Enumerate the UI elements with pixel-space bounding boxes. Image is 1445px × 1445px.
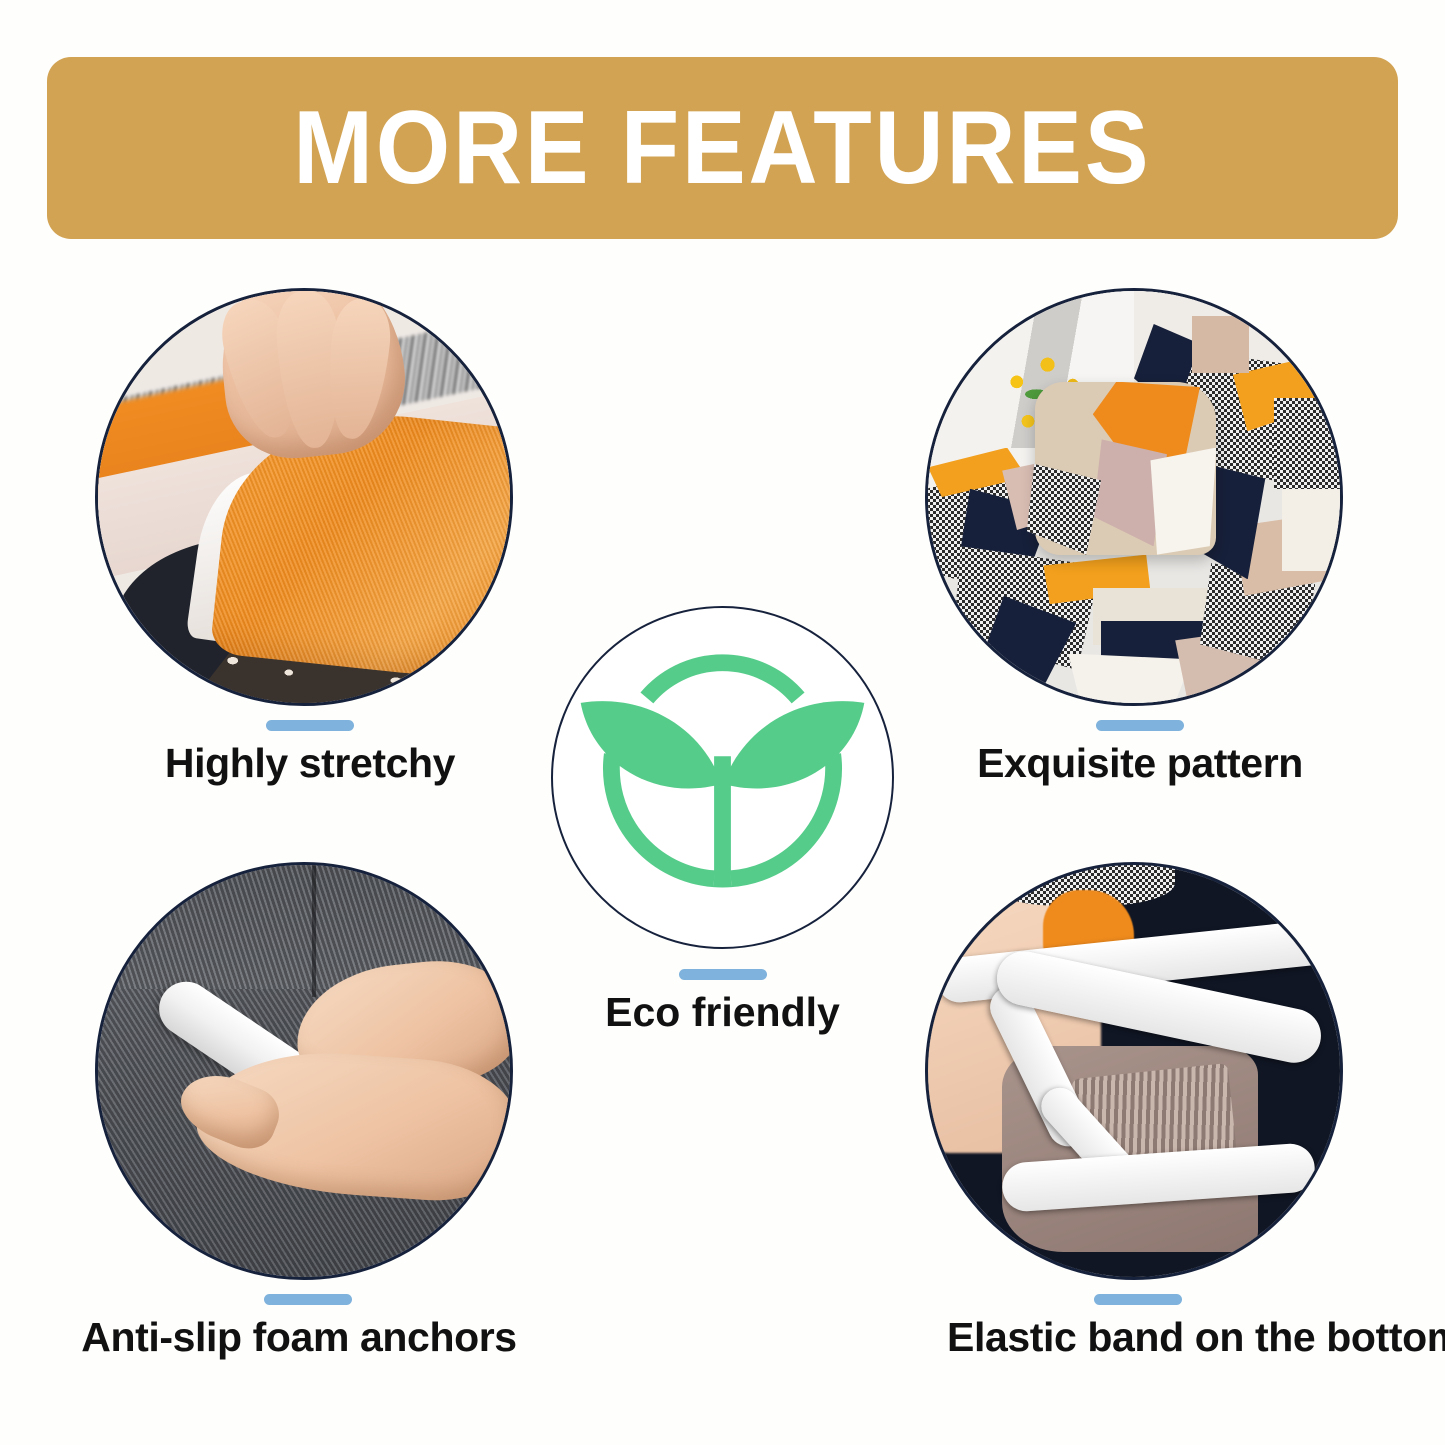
header-banner: MORE FEATURES: [47, 57, 1398, 239]
label-divider: [266, 720, 354, 731]
feature-label-highly-stretchy: Highly stretchy: [95, 740, 525, 787]
feature-exquisite-pattern: Exquisite pattern: [925, 288, 1355, 787]
label-divider: [264, 1294, 352, 1305]
eco-badge-circle: [551, 606, 894, 949]
feature-photo-highly-stretchy: [95, 288, 513, 706]
feature-anti-slip-foam-anchors: Anti-slip foam anchors: [95, 862, 525, 1361]
eco-friendly-badge: Eco friendly: [551, 606, 894, 1036]
feature-label-exquisite-pattern: Exquisite pattern: [925, 740, 1355, 787]
label-divider: [1094, 1294, 1182, 1305]
feature-photo-anti-slip-foam-anchors: [95, 862, 513, 1280]
photo-art: [98, 291, 510, 703]
photo-art: [98, 865, 510, 1277]
eco-sprout-icon: [553, 608, 892, 947]
label-divider: [679, 969, 767, 980]
infographic-page: MORE FEATURES Highly stretchy: [0, 0, 1445, 1445]
feature-highly-stretchy: Highly stretchy: [95, 288, 525, 787]
page-title: MORE FEATURES: [293, 96, 1151, 200]
feature-label-elastic-band: Elastic band on the bottom: [947, 1314, 1355, 1361]
feature-label-anti-slip-foam-anchors: Anti-slip foam anchors: [73, 1314, 525, 1361]
feature-photo-exquisite-pattern: [925, 288, 1343, 706]
feature-photo-elastic-band: [925, 862, 1343, 1280]
label-divider: [1096, 720, 1184, 731]
feature-elastic-band-on-the-bottom: Elastic band on the bottom: [925, 862, 1355, 1361]
photo-art: [928, 291, 1340, 703]
photo-art: [928, 865, 1340, 1277]
eco-friendly-label: Eco friendly: [551, 989, 894, 1036]
